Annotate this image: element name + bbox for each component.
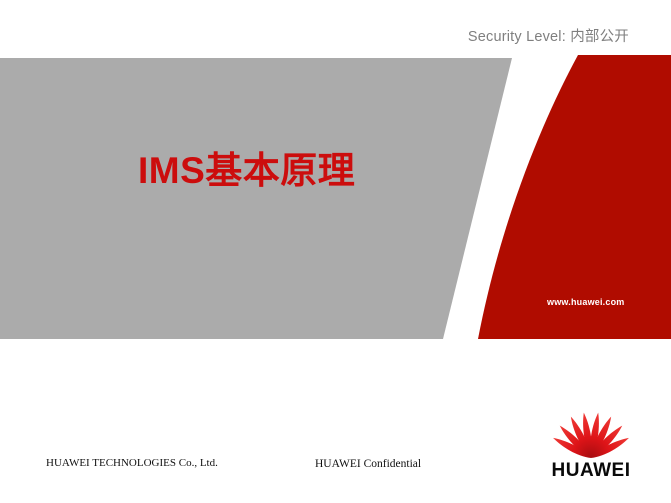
security-level-label: Security Level: 内部公开 [468,25,629,46]
huawei-flower-icon [528,412,654,460]
title-slide: Security Level: 内部公开 IMS基本原理 www.huawei.… [0,0,671,503]
huawei-logo: HUAWEI [528,412,654,484]
website-url: www.huawei.com [547,297,624,307]
footer-company-name: HUAWEI TECHNOLOGIES Co., Ltd. [46,457,218,469]
huawei-wordmark: HUAWEI [528,460,654,482]
footer-confidentiality-notice: HUAWEI Confidential [315,458,421,470]
page-title: IMS基本原理 [138,140,355,194]
gray-band-shape [0,58,512,339]
